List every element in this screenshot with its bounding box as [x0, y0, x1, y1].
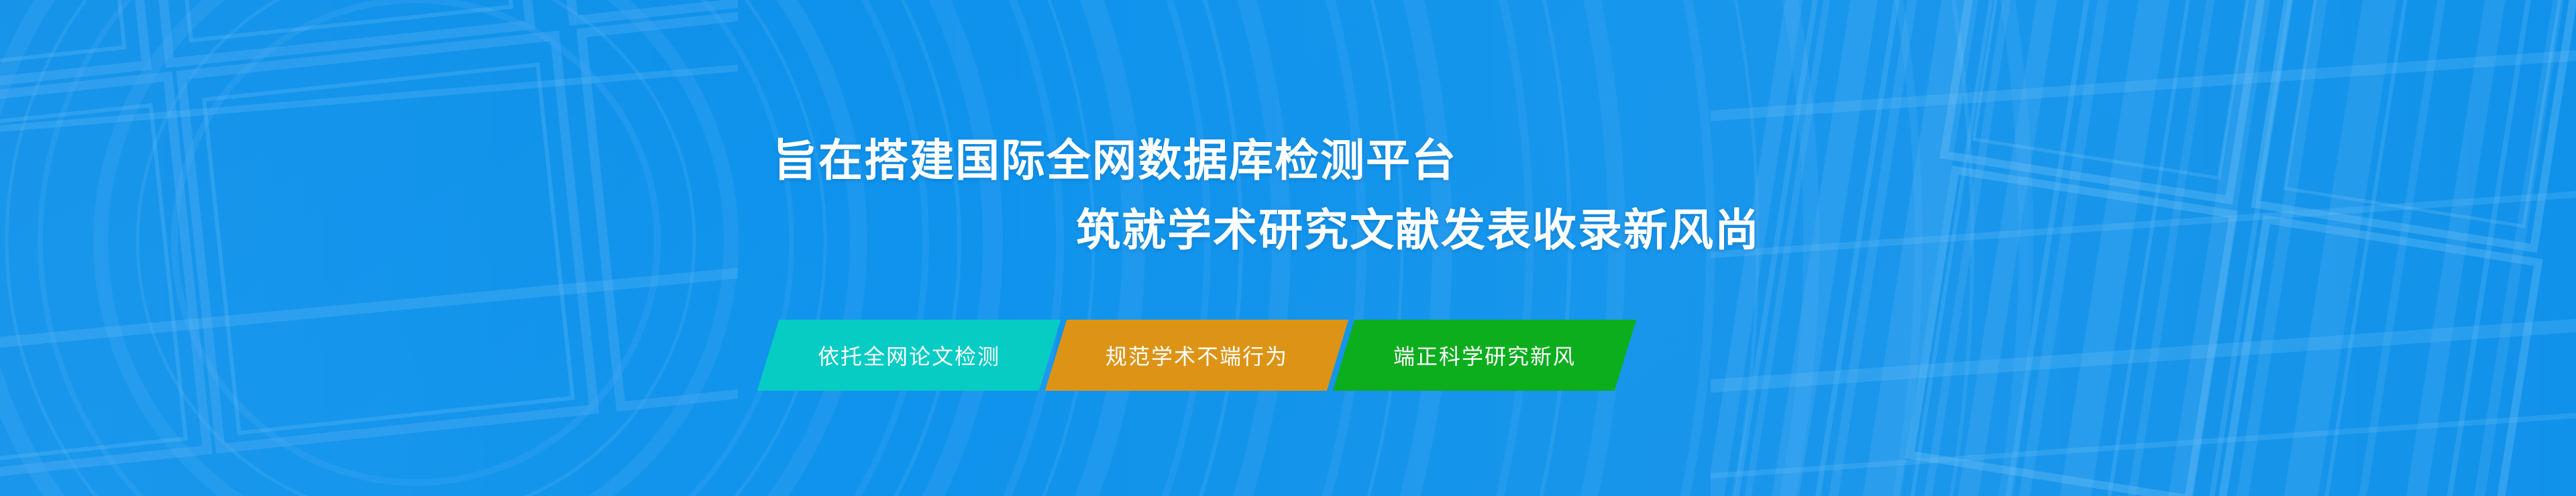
- badge-paper-detection[interactable]: 依托全网论文检测: [757, 320, 1061, 391]
- headline-primary: 旨在搭建国际全网数据库检测平台: [773, 138, 1457, 182]
- badge-paper-detection-label: 依托全网论文检测: [818, 340, 1000, 371]
- badge-academic-misconduct[interactable]: 规范学术不端行为: [1045, 320, 1348, 391]
- badge-research-integrity[interactable]: 端正科学研究新风: [1333, 320, 1636, 391]
- badge-research-integrity-label: 端正科学研究新风: [1393, 340, 1576, 371]
- promo-banner: 旨在搭建国际全网数据库检测平台 筑就学术研究文献发表收录新风尚 依托全网论文检测…: [0, 0, 2576, 496]
- headline-secondary: 筑就学术研究文献发表收录新风尚: [1076, 208, 1760, 252]
- banner-content: 旨在搭建国际全网数据库检测平台 筑就学术研究文献发表收录新风尚 依托全网论文检测…: [0, 0, 2576, 496]
- badge-academic-misconduct-label: 规范学术不端行为: [1106, 340, 1288, 371]
- feature-badge-strip: 依托全网论文检测 规范学术不端行为 端正科学研究新风: [768, 320, 1625, 391]
